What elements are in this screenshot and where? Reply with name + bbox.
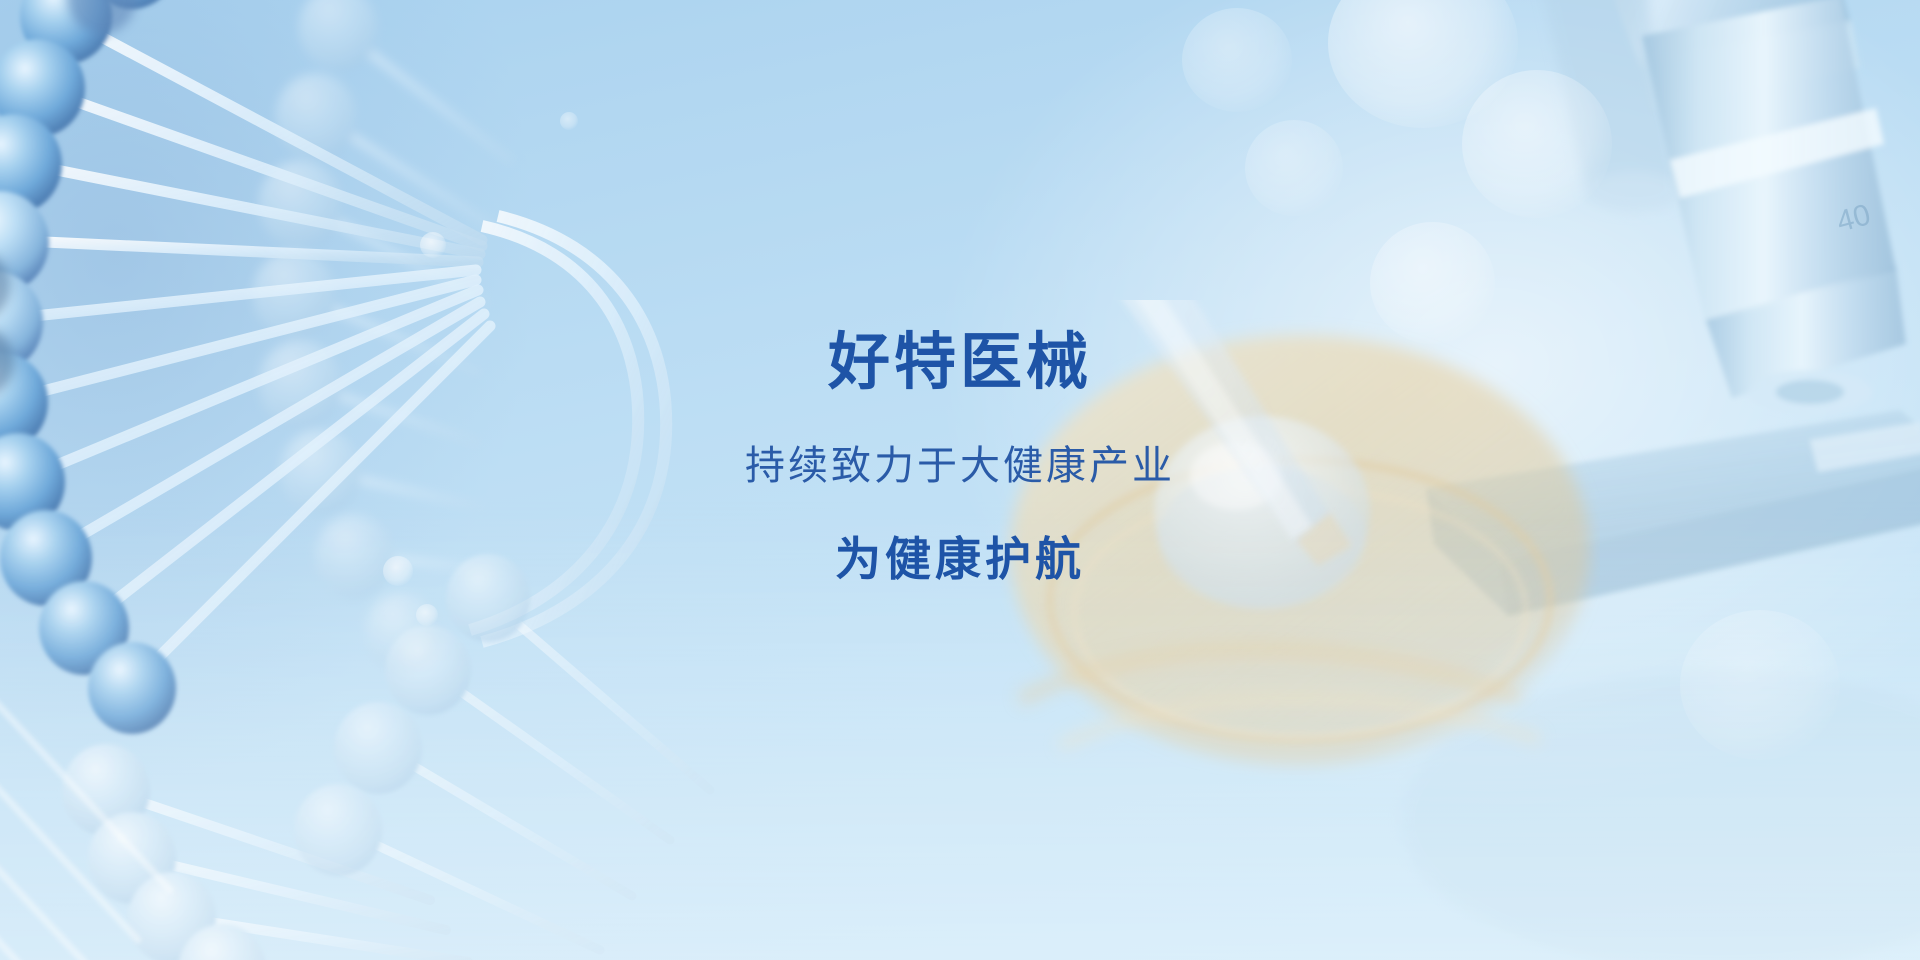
company-title: 好特医械 — [0, 330, 1920, 396]
hero-text-block: 好特医械 持续致力于大健康产业 为健康护航 — [0, 330, 1920, 584]
company-tagline: 为健康护航 — [0, 534, 1920, 585]
company-subtitle: 持续致力于大健康产业 — [0, 444, 1920, 488]
hero-banner: 40 — [0, 0, 1920, 960]
